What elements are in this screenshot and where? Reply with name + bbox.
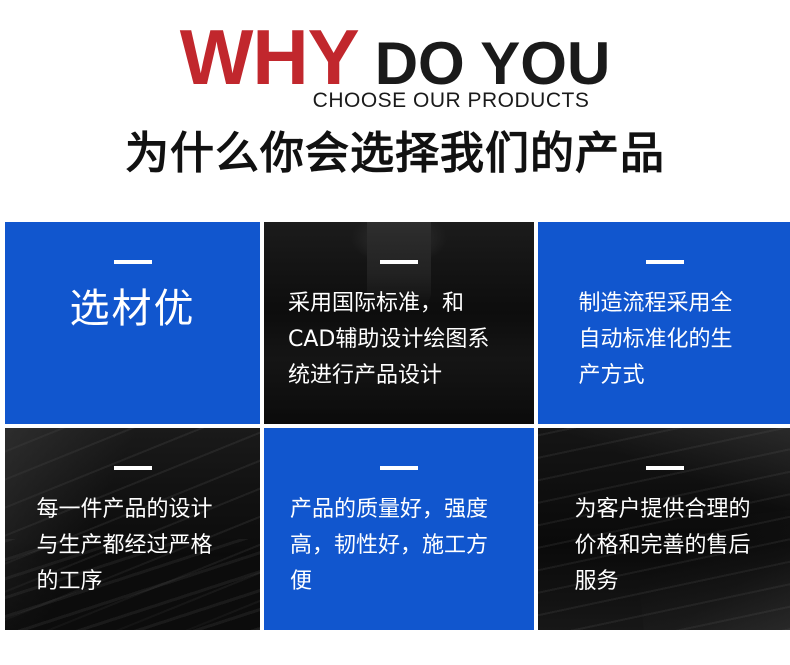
promo-banner: WHYDO YOU CHOOSE OUR PRODUCTS 为什么你会选择我们的…	[0, 0, 790, 665]
headline-subtitle-chinese: 为什么你会选择我们的产品	[0, 126, 790, 182]
feature-card-2-text: 采用国际标准，和CAD辅助设计绘图系统进行产品设计	[288, 286, 510, 394]
feature-card-4[interactable]: 每一件产品的设计与生产都经过严格的工序	[5, 428, 260, 630]
feature-card-3-text: 制造流程采用全自动标准化的生产方式	[579, 286, 751, 394]
feature-card-1-text: 选材优	[38, 286, 228, 332]
divider-dash-icon	[646, 260, 684, 264]
divider-dash-icon	[380, 260, 418, 264]
banner-header: WHYDO YOU CHOOSE OUR PRODUCTS 为什么你会选择我们的…	[0, 0, 790, 222]
headline-do-you: DO YOU	[375, 30, 611, 97]
divider-dash-icon	[380, 466, 418, 470]
divider-dash-icon	[114, 260, 152, 264]
feature-card-3[interactable]: 制造流程采用全自动标准化的生产方式	[538, 222, 790, 424]
feature-card-2[interactable]: 采用国际标准，和CAD辅助设计绘图系统进行产品设计	[264, 222, 534, 424]
divider-dash-icon	[646, 466, 684, 470]
feature-card-5[interactable]: 产品的质量好，强度高，韧性好，施工方便	[264, 428, 534, 630]
feature-card-1[interactable]: 选材优	[5, 222, 260, 424]
divider-dash-icon	[114, 466, 152, 470]
headline-subtitle-english: CHOOSE OUR PRODUCTS	[0, 88, 790, 114]
feature-card-5-text: 产品的质量好，强度高，韧性好，施工方便	[290, 492, 508, 600]
feature-card-6[interactable]: 为客户提供合理的价格和完善的售后服务	[538, 428, 790, 630]
feature-grid: 选材优 采用国际标准，和CAD辅助设计绘图系统进行产品设计 制造流程采用全自动标…	[5, 222, 783, 635]
feature-card-4-text: 每一件产品的设计与生产都经过严格的工序	[37, 492, 229, 600]
headline: WHYDO YOU	[0, 18, 790, 96]
feature-card-6-text: 为客户提供合理的价格和完善的售后服务	[575, 492, 755, 600]
